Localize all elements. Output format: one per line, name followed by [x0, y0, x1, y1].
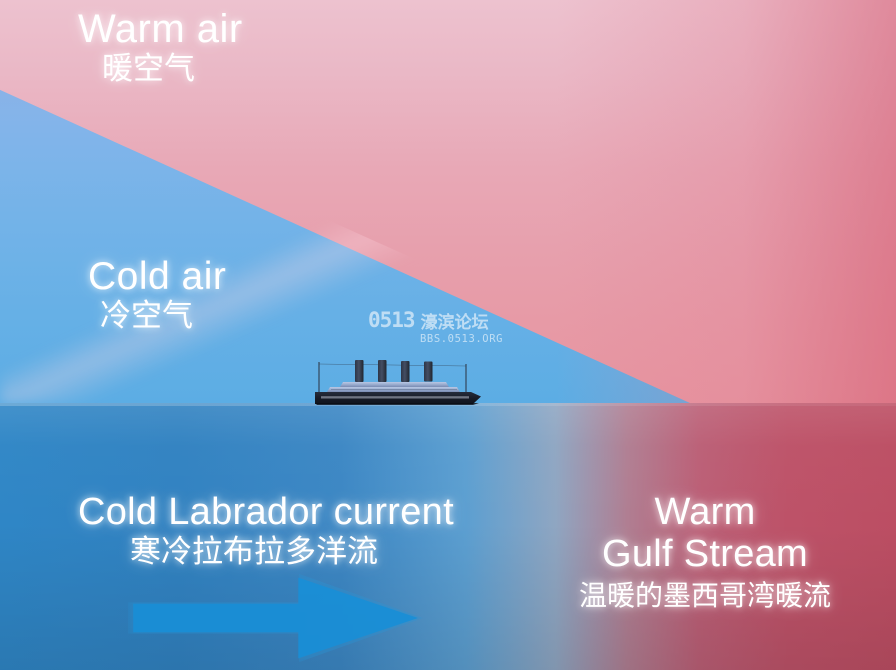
ocean-liner-icon — [303, 352, 486, 407]
diagram-canvas: Warm air 暖空气 Cold air 冷空气 Cold Labrador … — [0, 0, 896, 670]
